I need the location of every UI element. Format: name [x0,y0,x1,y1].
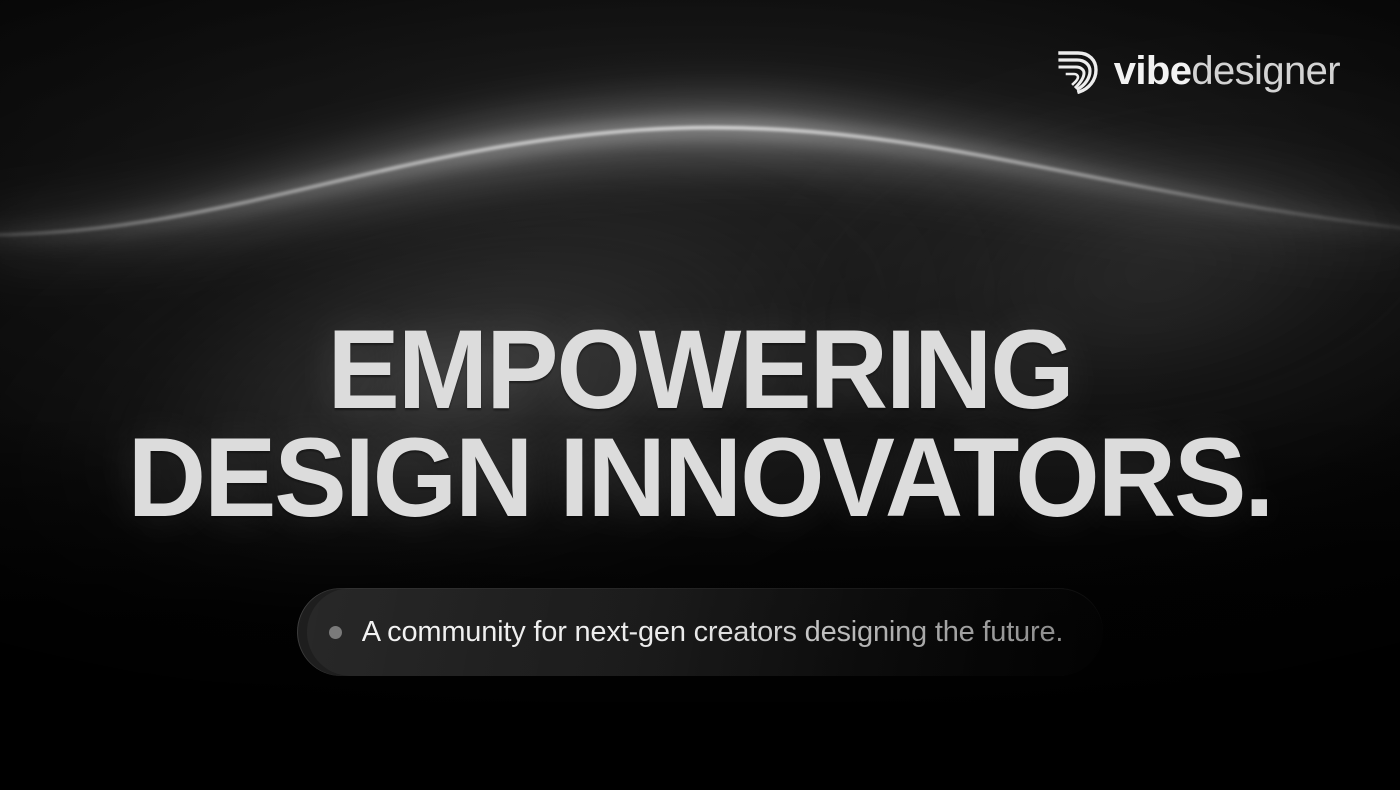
brand-wordmark: vibe designer [1114,51,1340,91]
subtitle-text: A community for next-gen creators design… [362,616,1063,649]
swirl-wave-mark-icon [1058,48,1100,94]
dot-icon [329,626,342,639]
headline-line-1: EMPOWERING [21,316,1379,424]
brand-word-light: designer [1191,51,1340,91]
headline-line-2: DESIGN INNOVATORS. [21,424,1379,532]
subtitle-pill[interactable]: A community for next-gen creators design… [297,588,1103,676]
brand-word-bold: vibe [1114,51,1192,91]
page-title: EMPOWERING DESIGN INNOVATORS. [21,316,1379,531]
brand-logo[interactable]: vibe designer [1058,48,1340,94]
hero-banner: vibe designer EMPOWERING DESIGN INNOVATO… [0,0,1400,790]
subtitle-area: A community for next-gen creators design… [0,588,1400,676]
